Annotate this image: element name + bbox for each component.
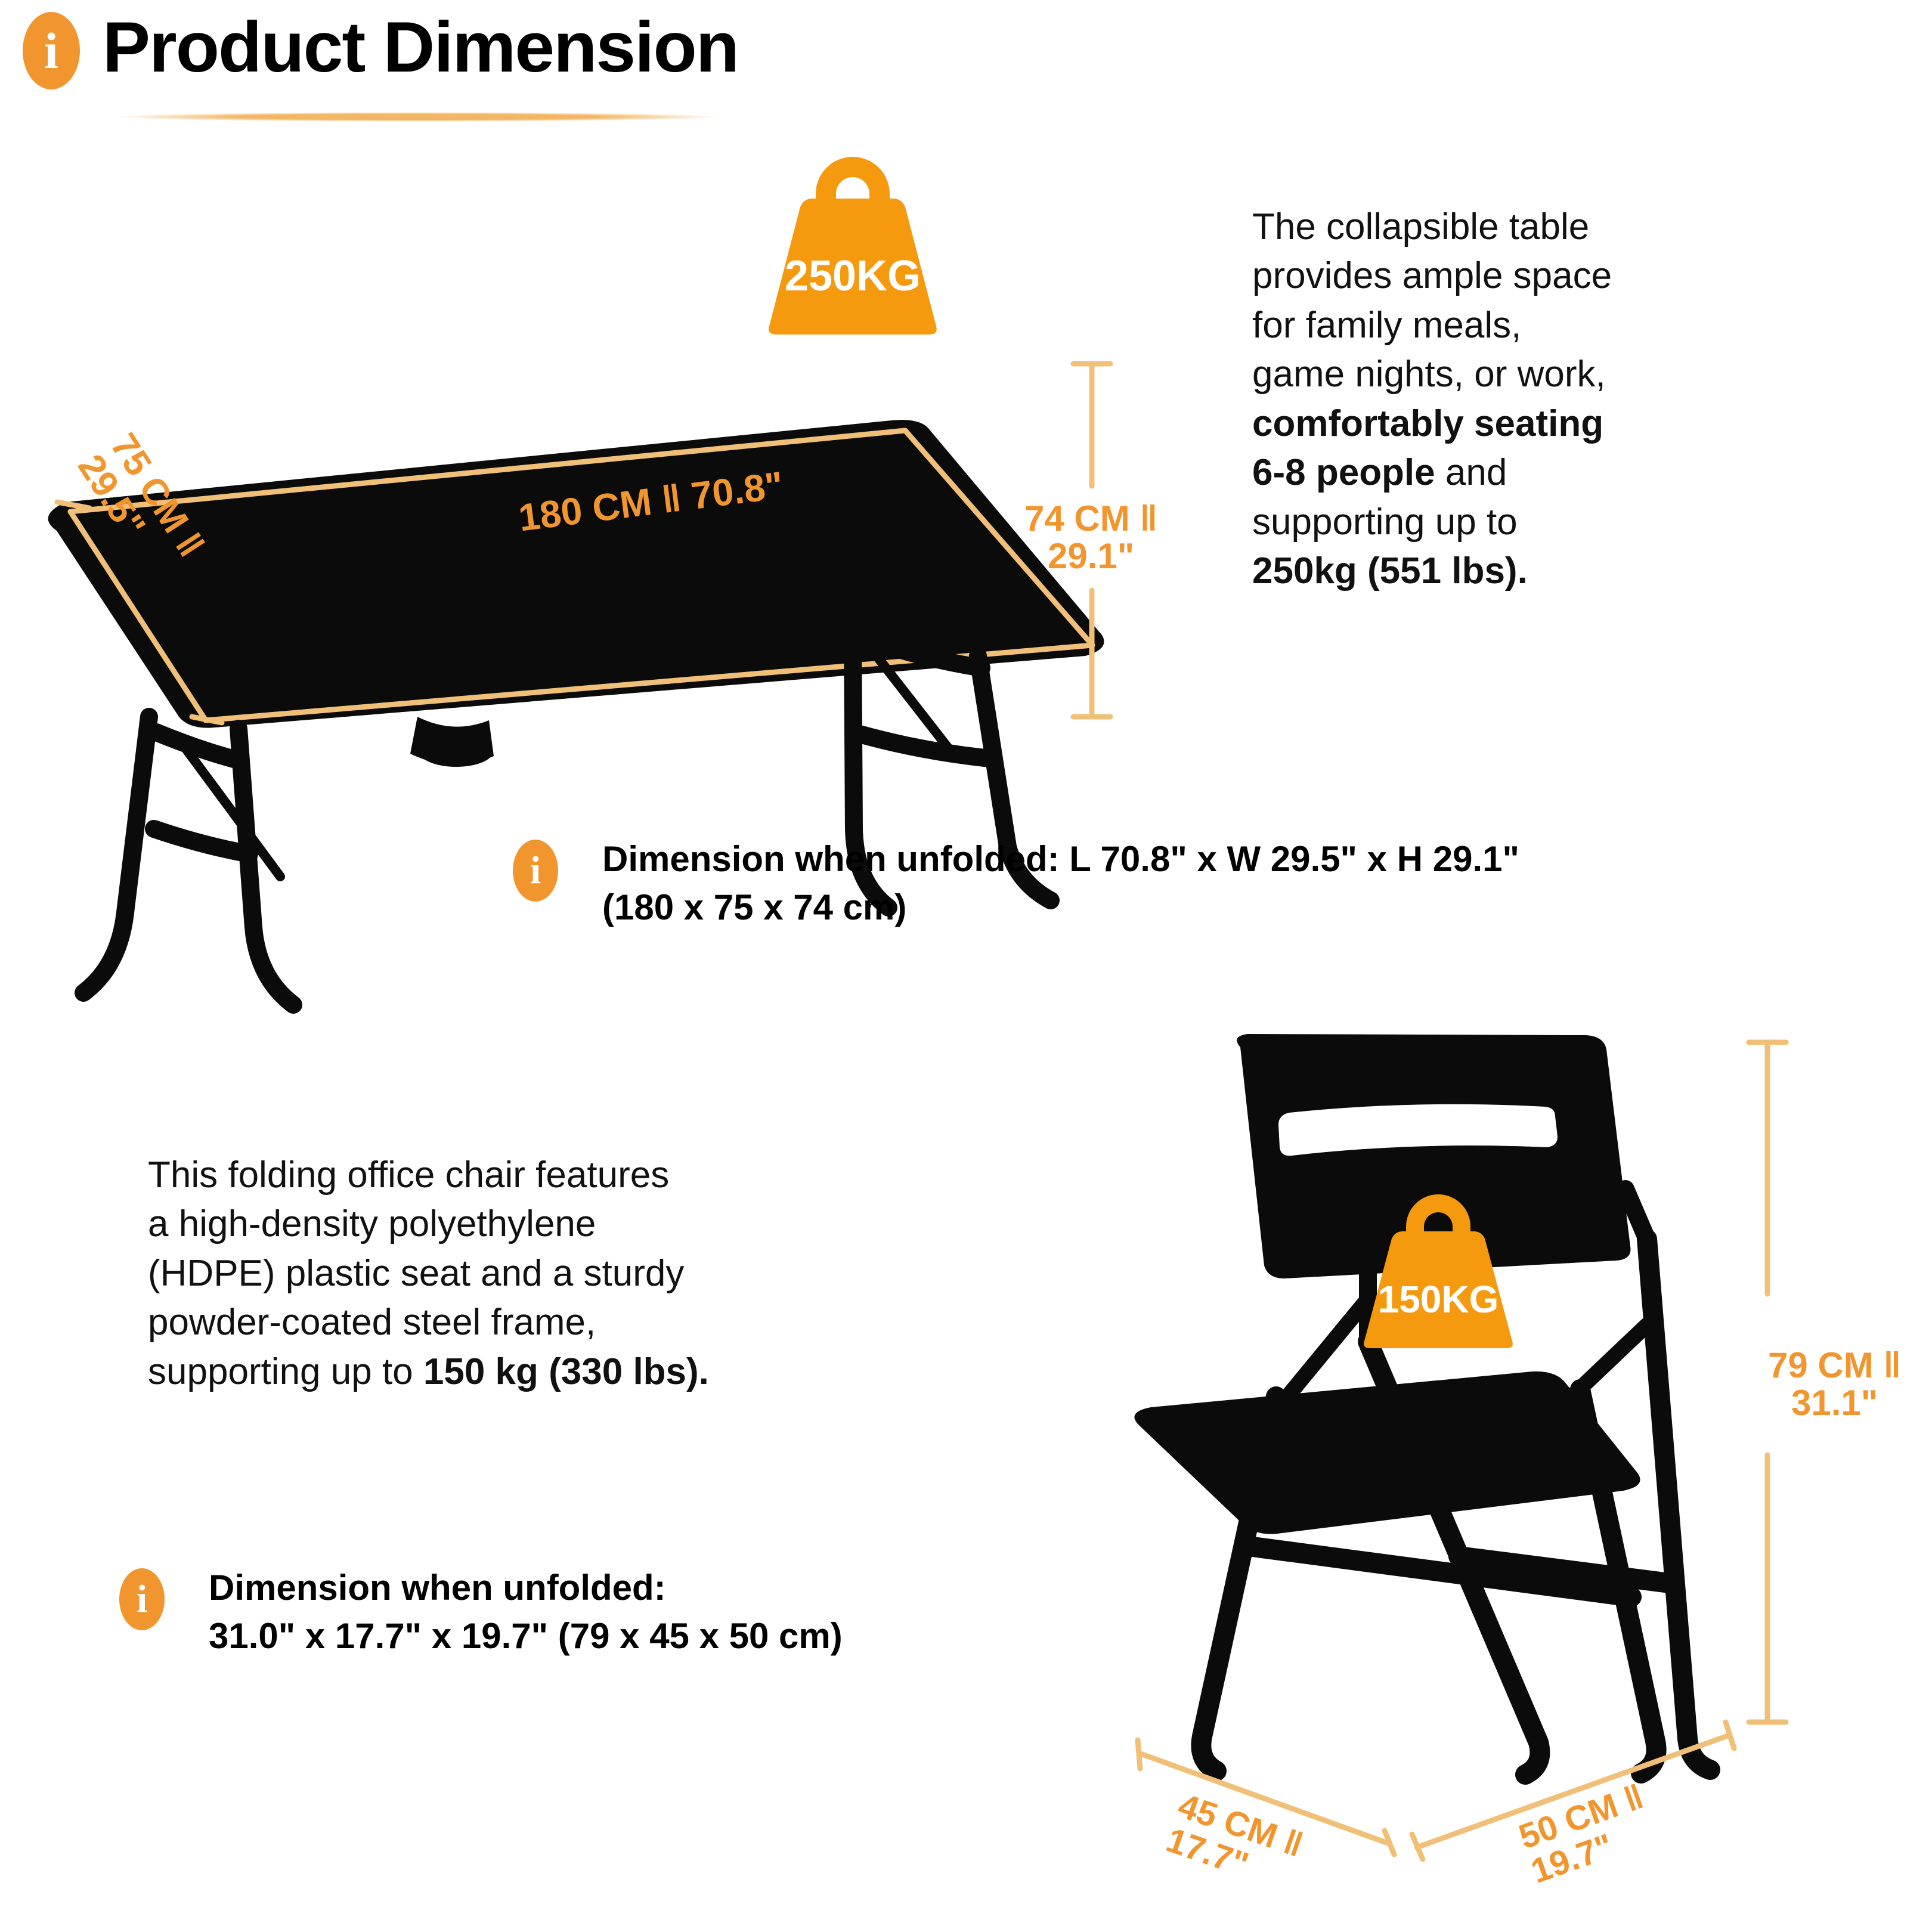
info-icon-glyph: i <box>137 1580 147 1619</box>
info-icon-glyph: i <box>44 25 58 76</box>
chair-height-label: 79 CM ‖ 31.1" <box>1768 1346 1901 1422</box>
folding-chair-illustration <box>1127 1032 1735 1801</box>
table-height-line2: 29.1" <box>1024 537 1157 575</box>
chair-weight-badge: 150KG <box>1360 1190 1527 1351</box>
chair-desc-line-4: powder-coated steel frame, <box>148 1302 596 1343</box>
info-icon: i <box>23 12 80 89</box>
page-header: i Product Dimension <box>0 0 1932 137</box>
table-desc-bold-2: 6-8 people <box>1252 452 1435 493</box>
info-icon-glyph: i <box>530 851 541 890</box>
chair-desc-line-5: supporting up to <box>148 1351 423 1392</box>
chair-caption: Dimension when unfolded: 31.0" x 17.7" x… <box>209 1563 1103 1660</box>
page-title: Product Dimension <box>103 6 738 88</box>
table-desc-bold-3: 250kg (551 lbs). <box>1252 550 1528 592</box>
table-desc-line-1: The collapsible table <box>1252 206 1589 247</box>
table-desc-mid: and <box>1435 452 1507 493</box>
chair-weight-label: 150KG <box>1378 1278 1499 1321</box>
chair-height-line2: 31.1" <box>1768 1384 1901 1422</box>
chair-desc-bold-1: 150 kg (330 lbs). <box>423 1351 709 1392</box>
chair-desc-line-2: a high-density polyethylene <box>148 1203 596 1244</box>
table-caption-line-2: (180 x 75 x 74 cm) <box>602 887 906 927</box>
chair-height-line1: 79 CM ‖ <box>1768 1345 1901 1385</box>
table-desc-line-3: for family meals, <box>1252 305 1521 346</box>
table-description: The collapsible table provides ample spa… <box>1252 203 1849 596</box>
chair-caption-line-2: 31.0" x 17.7" x 19.7" (79 x 45 x 50 cm) <box>209 1616 843 1656</box>
table-weight-label: 250KG <box>785 252 921 300</box>
chair-caption-line-1: Dimension when unfolded: <box>209 1568 666 1608</box>
table-height-label: 74 CM ‖ 29.1" <box>1024 500 1157 575</box>
table-desc-line-4: game nights, or work, <box>1252 354 1606 395</box>
chair-desc-line-3: (HDPE) plastic seat and a sturdy <box>148 1253 684 1294</box>
table-weight-badge: 250KG <box>763 152 954 337</box>
table-desc-line-2: provides ample space <box>1252 255 1612 296</box>
infographic-canvas: i Product Dimension <box>0 0 1932 1932</box>
table-caption-line-1: Dimension when unfolded: L 70.8" x W 29.… <box>602 839 1519 879</box>
chair-desc-line-1: This folding office chair features <box>148 1154 669 1196</box>
table-caption-info-icon: i <box>513 840 558 902</box>
title-underline-divider <box>113 112 722 122</box>
table-desc-bold-1: comfortably seating <box>1252 403 1603 444</box>
chair-caption-info-icon: i <box>119 1568 165 1630</box>
table-desc-line-5: supporting up to <box>1252 501 1518 543</box>
table-height-line1: 74 CM ‖ <box>1024 499 1157 538</box>
table-caption: Dimension when unfolded: L 70.8" x W 29.… <box>602 835 1854 931</box>
chair-description: This folding office chair features a hig… <box>148 1151 1042 1397</box>
